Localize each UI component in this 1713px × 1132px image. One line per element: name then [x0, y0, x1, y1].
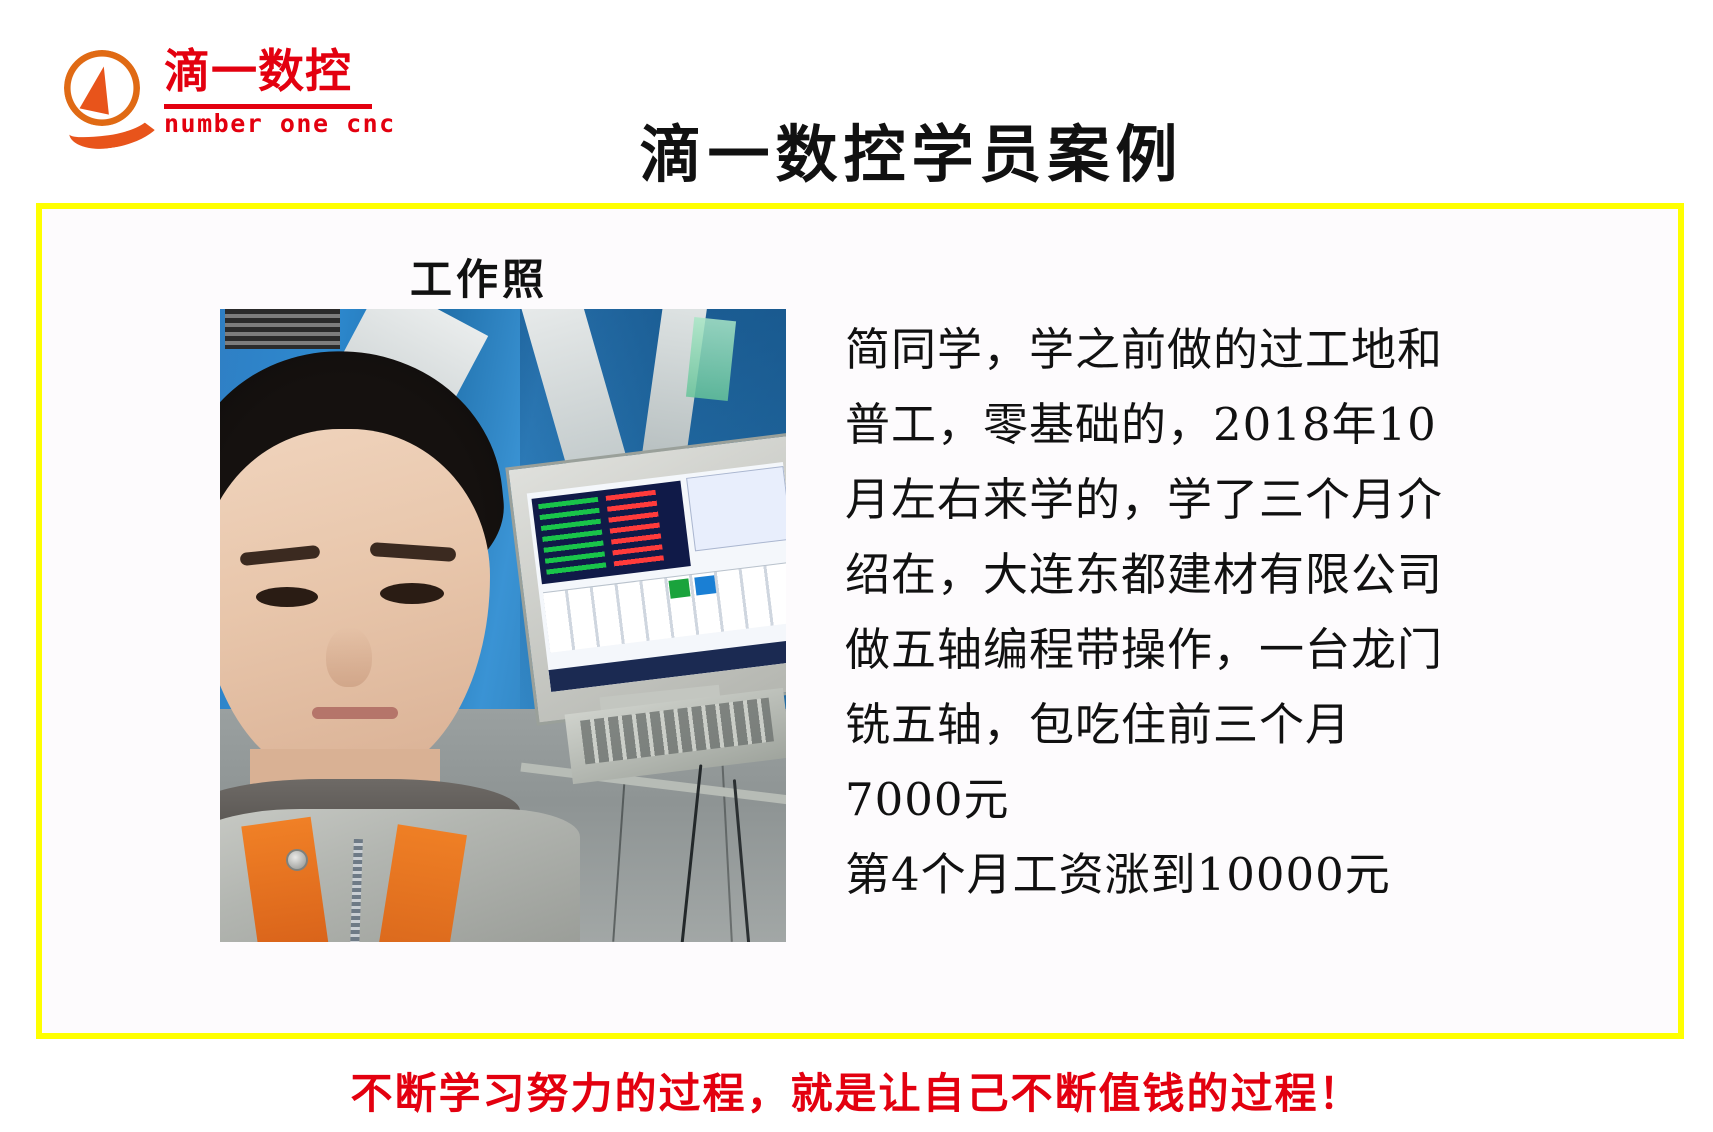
testimonial-text: 简同学，学之前做的过工地和 普工，零基础的，2018年10 月左右来学的，学了三…: [845, 312, 1635, 912]
testimonial-line: 普工，零基础的，2018年10: [845, 387, 1635, 462]
testimonial-line: 月左右来学的，学了三个月介: [845, 462, 1635, 537]
photo-screen-red-readout: [606, 490, 665, 570]
testimonial-line: 铣五轴，包吃住前三个月: [845, 687, 1635, 762]
photo-jacket-snap-button: [286, 849, 308, 871]
footer-slogan: 不断学习努力的过程，就是让自己不断值钱的过程！: [0, 1060, 1713, 1121]
student-work-photo: [220, 309, 786, 942]
photo-ceiling-vent: [225, 309, 340, 349]
photo-jacket-embroidery: [226, 905, 272, 942]
testimonial-line: 做五轴编程带操作，一台龙门: [845, 612, 1635, 687]
brand-name-cn: 滴一数控: [164, 44, 352, 98]
photo-person-nose: [326, 627, 372, 687]
photo-person-eye-left: [256, 587, 318, 607]
photo-cnc-control-screen: [527, 462, 786, 692]
photo-screen-right-panel: [686, 466, 786, 551]
photo-green-light: [686, 317, 736, 401]
photo-person-mouth: [312, 707, 398, 719]
testimonial-line: 7000元: [845, 762, 1635, 837]
work-photo-label: 工作照: [410, 246, 548, 307]
testimonial-line: 第4个月工资涨到10000元: [845, 837, 1635, 912]
photo-person-eye-right: [380, 583, 444, 604]
testimonial-line: 简同学，学之前做的过工地和: [845, 312, 1635, 387]
page-title: 滴一数控学员案例: [0, 104, 1713, 194]
testimonial-line: 绍在，大连东都建材有限公司: [845, 537, 1635, 612]
photo-screen-indicator-green: [668, 578, 690, 598]
photo-screen-green-readout: [538, 497, 607, 578]
photo-screen-indicator-blue: [694, 575, 716, 595]
